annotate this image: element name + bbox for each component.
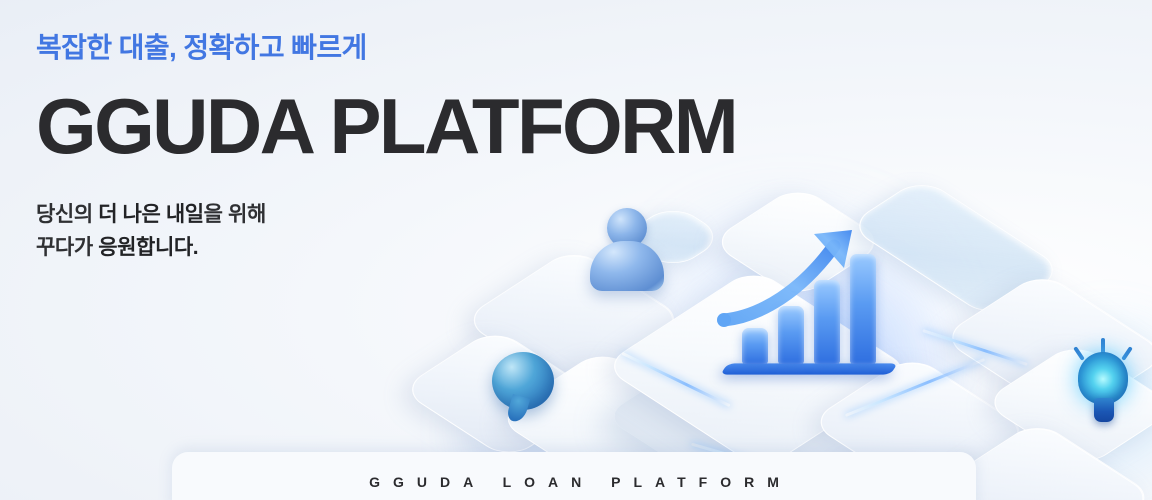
hero-tagline: 복잡한 대출, 정확하고 빠르게 — [36, 30, 536, 65]
speech-bubble-icon — [492, 352, 554, 422]
avatar-body — [590, 241, 664, 291]
bar-chart-growth-icon — [720, 232, 910, 382]
subtitle-lead-1: 당신의 — [36, 203, 98, 226]
hero-subtitle: 당신의 더 나은 내일을 위해 꾸다가 응원합니다. — [36, 199, 536, 264]
hero-banner: 복잡한 대출, 정확하고 빠르게 GGUDA PLATFORM 당신의 더 나은… — [0, 0, 1152, 500]
subtitle-tail-1: 을 위해 — [204, 203, 266, 226]
chart-bar — [778, 306, 804, 364]
user-avatar-icon — [590, 208, 664, 290]
chart-bar — [814, 280, 840, 364]
hero-subtitle-line-1: 당신의 더 나은 내일을 위해 — [36, 199, 536, 232]
bulb-glass — [1078, 352, 1128, 404]
subtitle-strong-1: 더 나은 내일 — [98, 203, 203, 226]
chart-base — [720, 363, 898, 374]
hero-subtitle-line-2: 꾸다가 응원합니다. — [36, 232, 536, 265]
page-title: GGUDA PLATFORM — [36, 87, 536, 165]
chart-bar — [742, 328, 768, 364]
subtitle-lead-2: 꾸다가 — [36, 236, 98, 259]
wordmark-panel: GGUDA LOAN PLATFORM — [172, 452, 976, 500]
bulb-ray — [1121, 346, 1133, 361]
bulb-base — [1094, 398, 1114, 422]
wordmark-text: GGUDA LOAN PLATFORM — [356, 474, 792, 490]
chart-bar — [850, 254, 876, 364]
lightbulb-icon — [1068, 338, 1138, 430]
bulb-ray — [1073, 346, 1085, 361]
hero-copy: 복잡한 대출, 정확하고 빠르게 GGUDA PLATFORM 당신의 더 나은… — [36, 30, 536, 264]
subtitle-strong-2: 응원합니다. — [98, 236, 198, 259]
growth-arrow-icon — [710, 216, 910, 336]
